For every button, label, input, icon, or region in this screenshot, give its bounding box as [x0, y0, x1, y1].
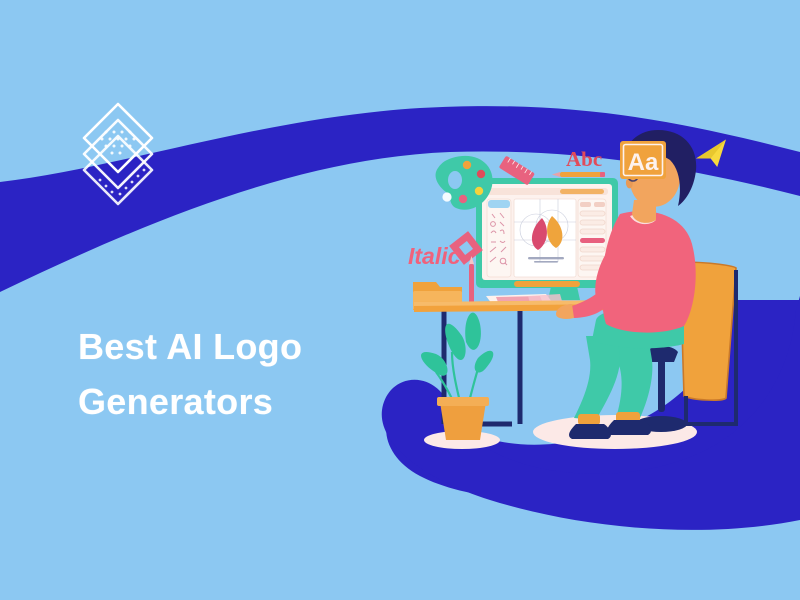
page-title: Best AI Logo Generators [78, 320, 378, 429]
poster-canvas: Abc Aa Italic Aa Best AI Logo Generators [0, 0, 800, 600]
aa-label: Aa [0, 0, 800, 600]
aa-label-text: Aa [628, 149, 659, 176]
